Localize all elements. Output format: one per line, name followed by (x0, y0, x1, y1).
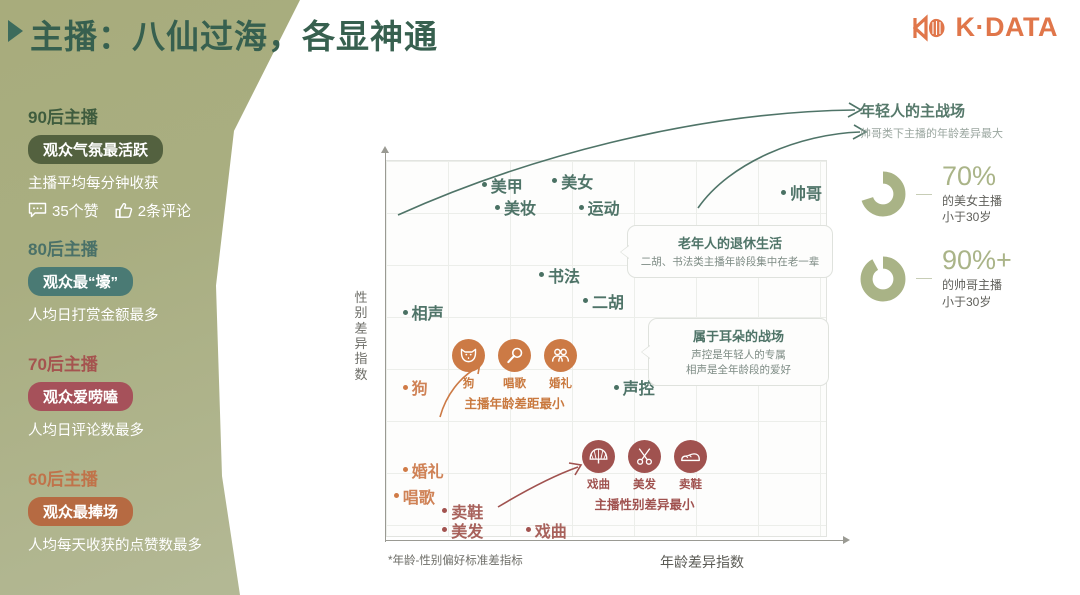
icon-name: 婚礼 (544, 375, 577, 391)
callout-line: 声控是年轻人的专属 (661, 348, 816, 363)
icon-cluster-caption: 主播年龄差距最小 (452, 393, 577, 412)
data-point: 相声 (403, 300, 444, 324)
callout-title: 属于耳朵的战场 (661, 326, 816, 345)
generation-badge: 观众最捧场 (28, 497, 133, 526)
data-point-label: 美甲 (491, 173, 523, 197)
callout-line: 相声是全年龄段的爱好 (661, 363, 816, 378)
data-point-dot (614, 385, 619, 390)
generation-block-80: 80后主播 观众最“壕” 人均日打赏金额最多 (28, 235, 278, 328)
icon-cluster-gender: 戏曲 美发 卖鞋 主播性别差异最小 (582, 440, 707, 513)
generation-badge: 观众气氛最活跃 (28, 135, 163, 164)
generation-desc: 人均每天收获的点赞数最多 (28, 536, 278, 558)
data-point: 帅哥 (781, 180, 822, 204)
donut-text: 70% 的美女主播 小于30岁 (942, 163, 1002, 225)
donut-stat-female: 70% 的美女主播 小于30岁 (860, 163, 1075, 225)
data-point-dot (781, 190, 786, 195)
brand-logo: K·DATA (913, 12, 1058, 43)
data-point: 唱歌 (394, 484, 435, 508)
donut-sub-line1: 的美女主播 (942, 193, 1002, 209)
leader-line (916, 278, 932, 279)
data-point-dot (583, 298, 588, 303)
data-point-dot (552, 178, 557, 183)
data-point-dot (394, 493, 399, 498)
generation-stats: 35个赞 2条评论 (28, 200, 278, 221)
stat-comments-value: 2条评论 (138, 200, 191, 221)
data-point-dot (495, 205, 500, 210)
play-arrow-icon (8, 20, 23, 42)
shoe-icon (674, 440, 707, 473)
data-point-label: 美妆 (504, 195, 536, 219)
generation-block-60: 60后主播 观众最捧场 人均每天收获的点赞数最多 (28, 465, 278, 558)
icon-cluster-youngest: 狗 唱歌 婚礼 主播年龄差距最小 (452, 339, 577, 412)
page-title: 主播：八仙过海，各显神通 (30, 10, 438, 58)
generation-title: 80后主播 (28, 235, 278, 260)
data-point-label: 婚礼 (412, 458, 444, 482)
callout-tail-fill-icon (621, 246, 629, 258)
generation-title: 70后主播 (28, 350, 278, 375)
y-axis-arrow-icon (381, 146, 389, 153)
right-panel-subtitle: 帅哥类下主播的年龄差异最大 (860, 125, 1075, 141)
data-point: 二胡 (583, 289, 624, 313)
data-point: 美甲 (482, 173, 523, 197)
generation-title: 90后主播 (28, 103, 278, 128)
icon-name: 卖鞋 (674, 476, 707, 492)
data-point-dot (539, 272, 544, 277)
donut-chart-90-icon (860, 256, 906, 302)
donut-sub-line1: 的帅哥主播 (942, 277, 1012, 293)
callout-line: 二胡、书法类主播年龄段集中在老一辈 (640, 255, 820, 270)
data-point-dot (442, 527, 447, 532)
data-point-dot (403, 385, 408, 390)
data-point-label: 戏曲 (535, 518, 567, 542)
x-axis-label: 年龄差异指数 (660, 552, 744, 572)
donut-stat-male: 90%+ 的帅哥主播 小于30岁 (860, 247, 1075, 309)
data-point: 戏曲 (526, 518, 567, 542)
generation-desc: 人均日打赏金额最多 (28, 306, 278, 328)
x-axis-arrow-icon (843, 536, 850, 544)
callout-tail-fill-icon (642, 346, 650, 358)
icon-name: 戏曲 (582, 476, 615, 492)
thumbs-up-icon (115, 202, 133, 219)
generation-title: 60后主播 (28, 465, 278, 490)
generation-desc: 主播平均每分钟收获 (28, 174, 278, 196)
stat-likes-value: 35个赞 (52, 200, 99, 221)
y-axis-label: 性别差异指数 (352, 290, 370, 382)
data-point-label: 二胡 (592, 289, 624, 313)
right-panel-title: 年轻人的主战场 (860, 100, 1075, 121)
data-point: 书法 (539, 263, 580, 287)
donut-text: 90%+ 的帅哥主播 小于30岁 (942, 247, 1012, 309)
data-point-label: 美发 (451, 518, 483, 542)
data-point-dot (442, 508, 447, 513)
data-point-dot (579, 205, 584, 210)
data-point-dot (482, 182, 487, 187)
data-point: 美妆 (495, 195, 536, 219)
icon-name: 美发 (628, 476, 661, 492)
scissors-icon (628, 440, 661, 473)
callout-ears: 属于耳朵的战场 声控是年轻人的专属 相声是全年龄段的爱好 (648, 318, 829, 386)
callout-retirement: 老年人的退休生活 二胡、书法类主播年龄段集中在老一辈 (627, 225, 833, 278)
data-point-dot (403, 310, 408, 315)
donut-sub-line2: 小于30岁 (942, 294, 1012, 310)
icon-name: 唱歌 (498, 375, 531, 391)
icon-cluster-caption: 主播性别差异最小 (582, 494, 707, 513)
generation-badge: 观众爱唠嗑 (28, 382, 133, 411)
y-axis (385, 152, 386, 542)
data-point: 狗 (403, 375, 428, 399)
microphone-icon (498, 339, 531, 372)
right-stats-panel: 年轻人的主战场 帅哥类下主播的年龄差异最大 70% 的美女主播 小于30岁 90… (860, 100, 1075, 310)
leader-line (916, 194, 932, 195)
opera-fan-icon (582, 440, 615, 473)
data-point-label: 运动 (588, 195, 620, 219)
data-point: 美发 (442, 518, 483, 542)
data-point-label: 狗 (412, 375, 428, 399)
generation-block-90: 90后主播 观众气氛最活跃 主播平均每分钟收获 35个赞 2条评论 (28, 103, 278, 221)
data-point: 美女 (552, 169, 593, 193)
data-point-label: 唱歌 (403, 484, 435, 508)
stat-likes: 35个赞 (28, 200, 99, 221)
data-point: 婚礼 (403, 458, 444, 482)
chart-footnote: *年龄-性别偏好标准差指标 (388, 552, 523, 568)
generation-block-70: 70后主播 观众爱唠嗑 人均日评论数最多 (28, 350, 278, 443)
data-point-label: 美女 (561, 169, 593, 193)
stat-comments: 2条评论 (115, 200, 191, 221)
icon-name: 狗 (452, 375, 485, 391)
k-data-logo-icon (913, 14, 953, 42)
data-point-dot (403, 467, 408, 472)
generation-badge: 观众最“壕” (28, 267, 133, 296)
data-point-label: 帅哥 (790, 180, 822, 204)
data-point-label: 相声 (412, 300, 444, 324)
wedding-couple-icon (544, 339, 577, 372)
donut-percent: 70% (942, 163, 1002, 190)
callout-title: 老年人的退休生活 (640, 233, 820, 252)
data-point: 运动 (579, 195, 620, 219)
donut-percent: 90%+ (942, 247, 1012, 274)
data-point-label: 书法 (548, 263, 580, 287)
logo-text: K·DATA (956, 12, 1058, 43)
generation-desc: 人均日评论数最多 (28, 421, 278, 443)
page-header: 主播：八仙过海，各显神通 K·DATA (0, 0, 1080, 70)
donut-chart-70-icon (860, 171, 906, 217)
donut-sub-line2: 小于30岁 (942, 209, 1002, 225)
data-point-dot (526, 527, 531, 532)
comment-bubble-icon (28, 202, 47, 218)
dog-icon (452, 339, 485, 372)
